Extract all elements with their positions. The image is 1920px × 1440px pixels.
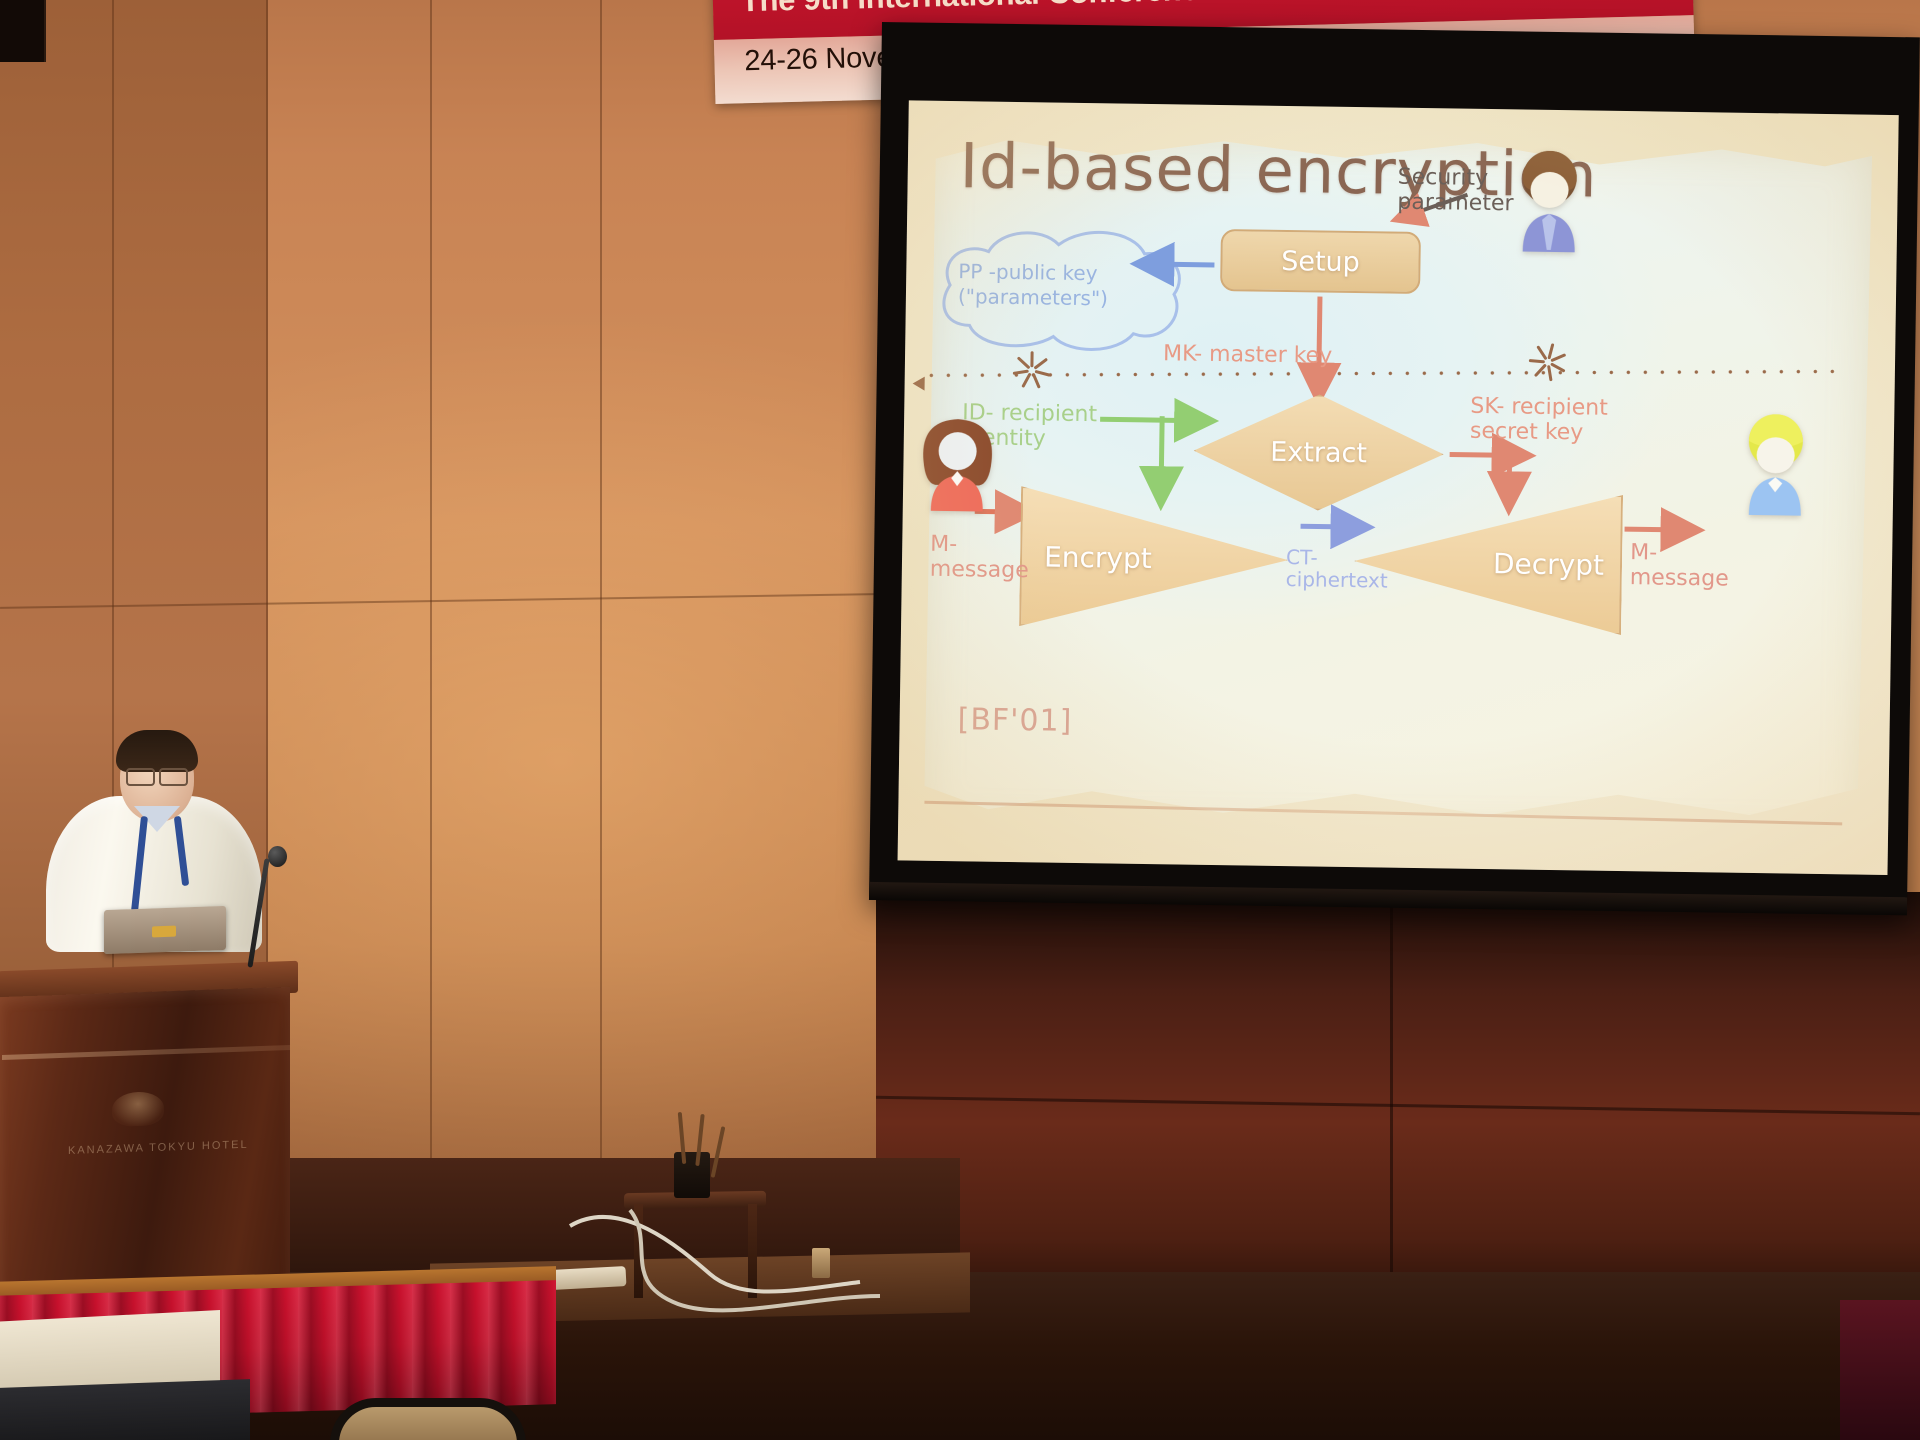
wall-outlet [812,1248,830,1278]
podium-crest [112,1091,164,1127]
authority-avatar-icon [1503,147,1597,252]
projected-slide: Id-based encryption PP -public key ("par… [898,100,1899,875]
encrypt-node: Encrypt [1019,486,1289,630]
dotted-line-arrow-icon [913,376,925,390]
chair-back [330,1398,526,1440]
setup-node: Setup [1220,229,1421,294]
starburst-icon [1519,329,1578,388]
laptop-badge [152,926,176,938]
wall-seam [600,0,602,1164]
public-key-cloud: PP -public key ("parameters") [935,221,1193,357]
master-key-label: MK- master key [1163,342,1332,369]
decrypt-node: Decrypt [1353,491,1623,635]
laptop [104,906,226,954]
microphone-icon [268,846,287,867]
public-key-cloud-label: PP -public key ("parameters") [958,259,1174,312]
front-dark-table [0,1379,250,1440]
encrypt-label: Encrypt [1043,486,1215,629]
message-output-label: M- message [1630,541,1730,592]
conference-room-photo: KANAZAWA TOKYU HOTEL Prov The 9th Intern… [0,0,1920,1440]
podium: KANAZAWA TOKYU HOTEL [0,966,550,1306]
eyeglasses-icon [126,768,188,782]
sender-avatar-icon [911,406,1005,511]
paper-pile [552,1266,627,1290]
setup-label: Setup [1281,245,1360,277]
starburst-icon [1002,338,1061,397]
wood-panel-seam [1390,892,1393,1304]
message-input-label: M- message [930,533,1030,584]
security-parameter-label: Security parameter [1397,166,1514,217]
foreground-dark-object [1840,1300,1920,1440]
citation-label: [BF'01] [957,703,1072,738]
recipient-avatar-icon [1729,411,1823,516]
power-cable [560,1186,890,1316]
decrypt-label: Decrypt [1427,492,1605,635]
projection-screen-frame: Id-based encryption PP -public key ("par… [869,22,1920,915]
recipient-secret-key-label: SK- recipient secret key [1470,395,1608,446]
speaker-hair [116,730,198,772]
ceiling-speaker [0,0,46,62]
ciphertext-label: CT- ciphertext [1286,546,1389,592]
